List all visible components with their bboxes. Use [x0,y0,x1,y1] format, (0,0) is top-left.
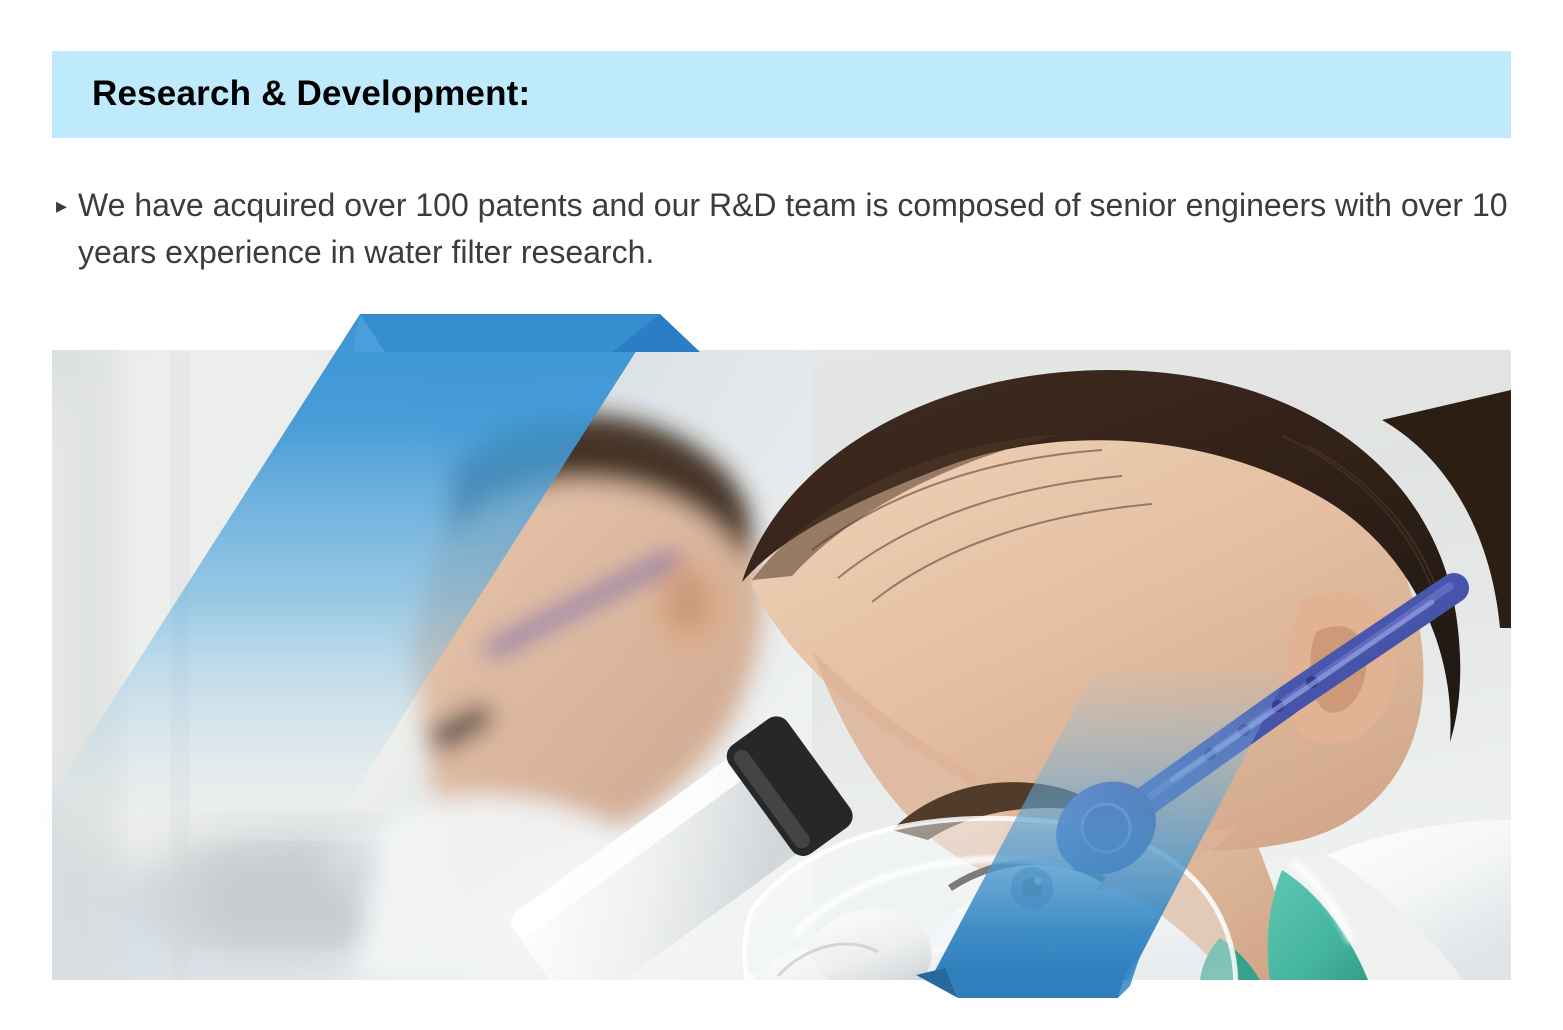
bullet-item-text: We have acquired over 100 patents and ou… [78,182,1516,276]
page-title: Research & Development: [92,71,530,116]
bullet-list-item: ▸ We have acquired over 100 patents and … [56,182,1516,276]
photo-svg [52,350,1511,980]
body-paragraph-block: ▸ We have acquired over 100 patents and … [56,182,1516,276]
laboratory-photo [52,350,1511,980]
triangle-bullet-icon: ▸ [56,182,78,229]
